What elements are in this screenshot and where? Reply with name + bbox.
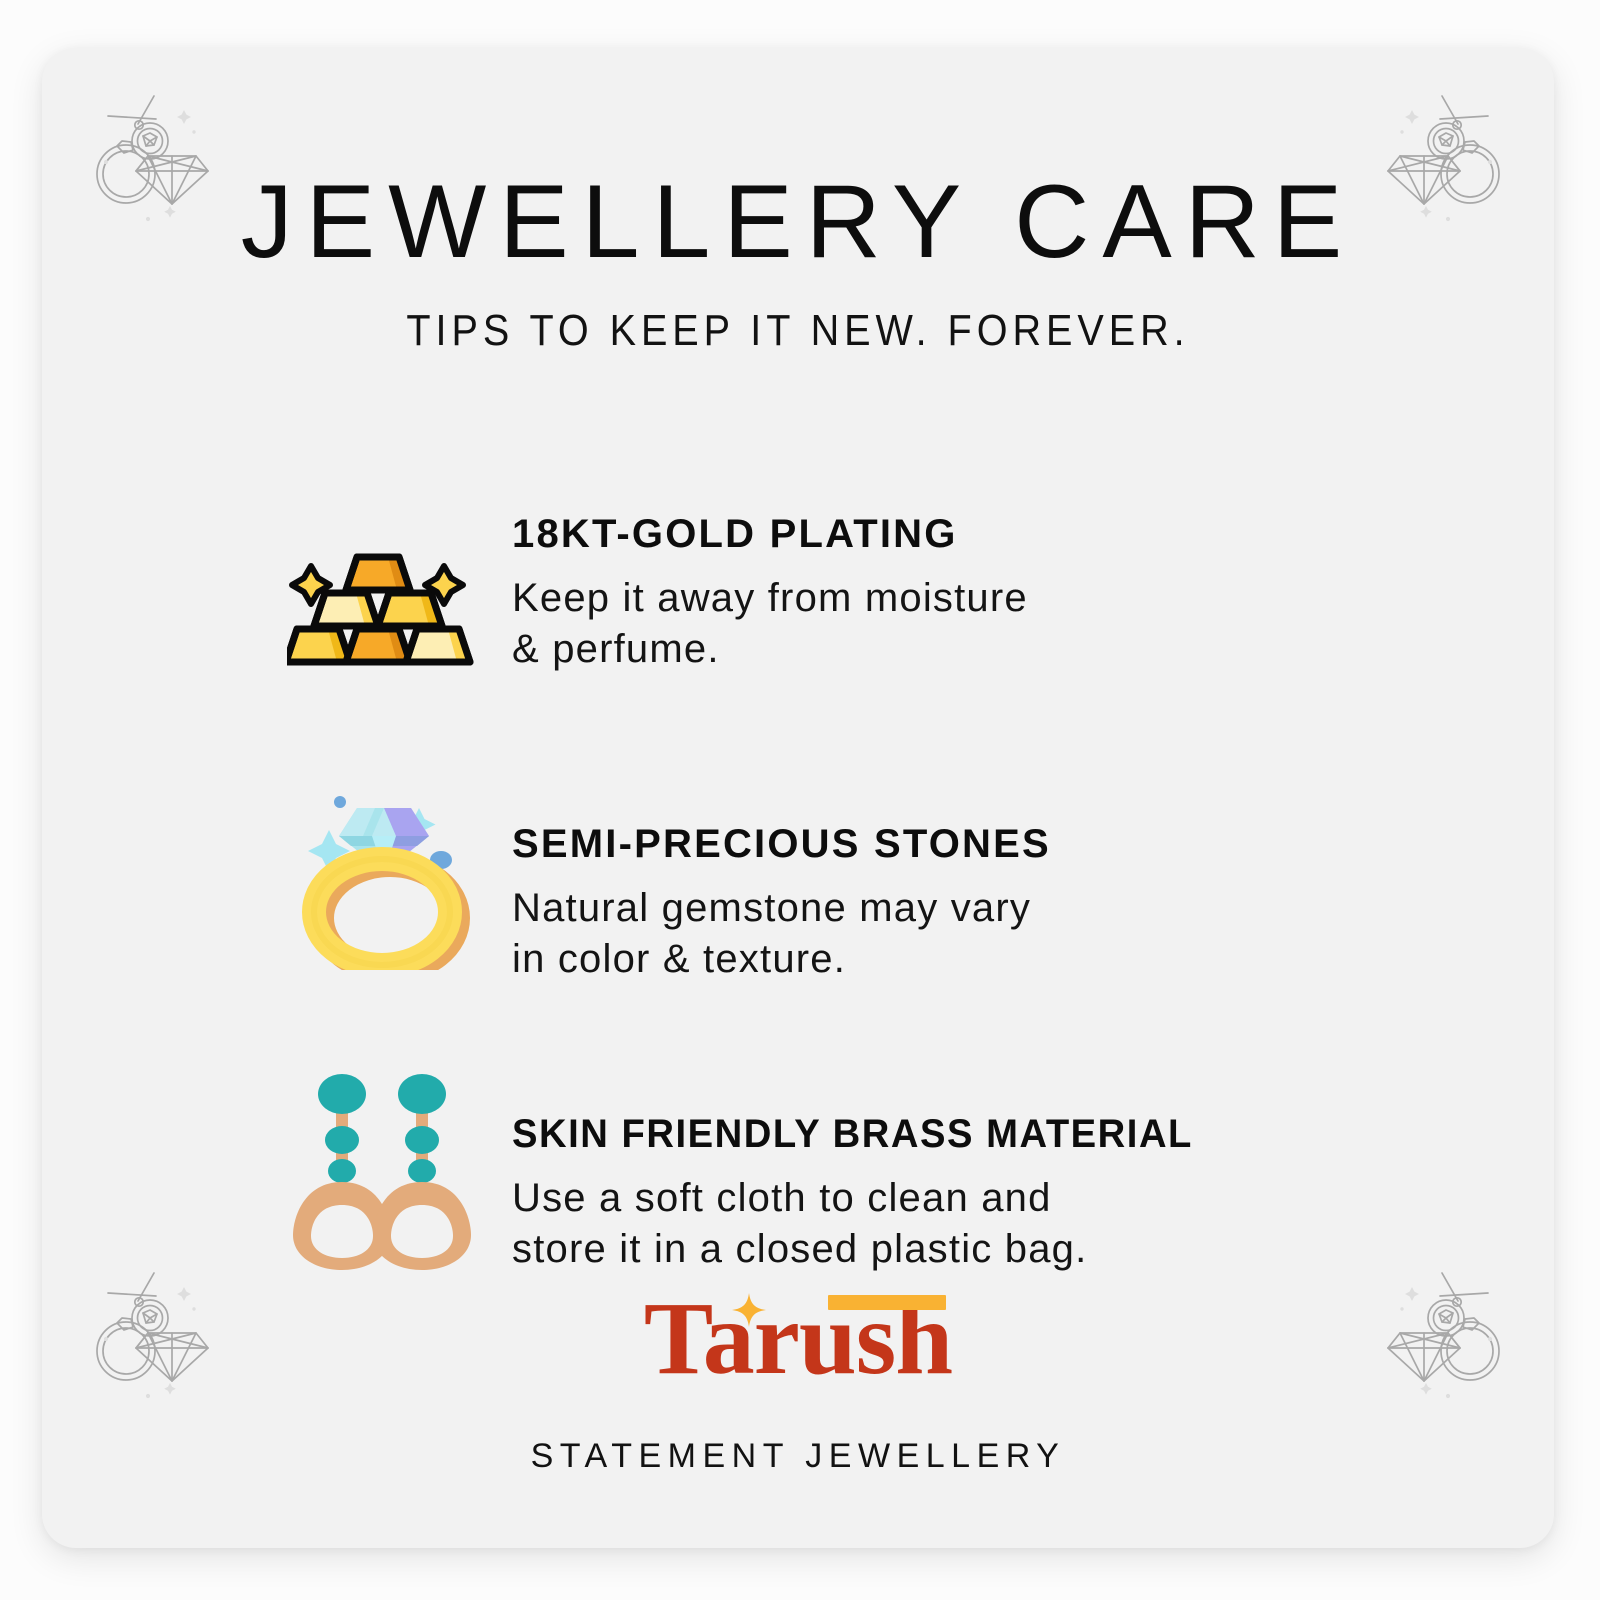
tip-heading: 18KT-GOLD PLATING (512, 512, 1484, 557)
tip-text-container: 18KT-GOLD PLATING Keep it away from mois… (512, 496, 1554, 675)
tip-item-gold-plating: 18KT-GOLD PLATING Keep it away from mois… (42, 496, 1554, 766)
page-subtitle: TIPS TO KEEP IT NEW. FOREVER. (118, 306, 1479, 356)
brand-tagline: STATEMENT JEWELLERY (42, 1437, 1554, 1476)
infographic-card: JEWELLERY CARE TIPS TO KEEP IT NEW. FORE… (42, 48, 1554, 1548)
logo-gold-bar (828, 1295, 946, 1310)
tip-icon-container (252, 538, 512, 673)
tip-text-container: SKIN FRIENDLY BRASS MATERIAL Use a soft … (512, 1066, 1554, 1275)
drop-earrings-icon (292, 1068, 472, 1273)
tip-body: Natural gemstone may vary in color & tex… (512, 883, 1484, 985)
page-title: JEWELLERY CARE (42, 170, 1554, 274)
brand-logo: Tarush (644, 1287, 952, 1395)
gold-bars-icon (287, 538, 477, 673)
footer: Tarush STATEMENT JEWELLERY (42, 1287, 1554, 1476)
tip-text-container: SEMI-PRECIOUS STONES Natural gemstone ma… (512, 766, 1554, 985)
tip-icon-container (252, 770, 512, 970)
logo-sparkle-icon (732, 1293, 766, 1327)
header: JEWELLERY CARE TIPS TO KEEP IT NEW. FORE… (42, 170, 1554, 356)
tip-item-semi-precious-stones: SEMI-PRECIOUS STONES Natural gemstone ma… (42, 766, 1554, 1066)
tip-icon-container (252, 1068, 512, 1273)
tip-body: Keep it away from moisture & perfume. (512, 573, 1484, 675)
tip-heading: SKIN FRIENDLY BRASS MATERIAL (512, 1112, 1440, 1157)
diamond-ring-icon (295, 770, 470, 970)
tip-body: Use a soft cloth to clean and store it i… (512, 1173, 1484, 1275)
tips-list: 18KT-GOLD PLATING Keep it away from mois… (42, 496, 1554, 1336)
tip-heading: SEMI-PRECIOUS STONES (512, 822, 1484, 867)
